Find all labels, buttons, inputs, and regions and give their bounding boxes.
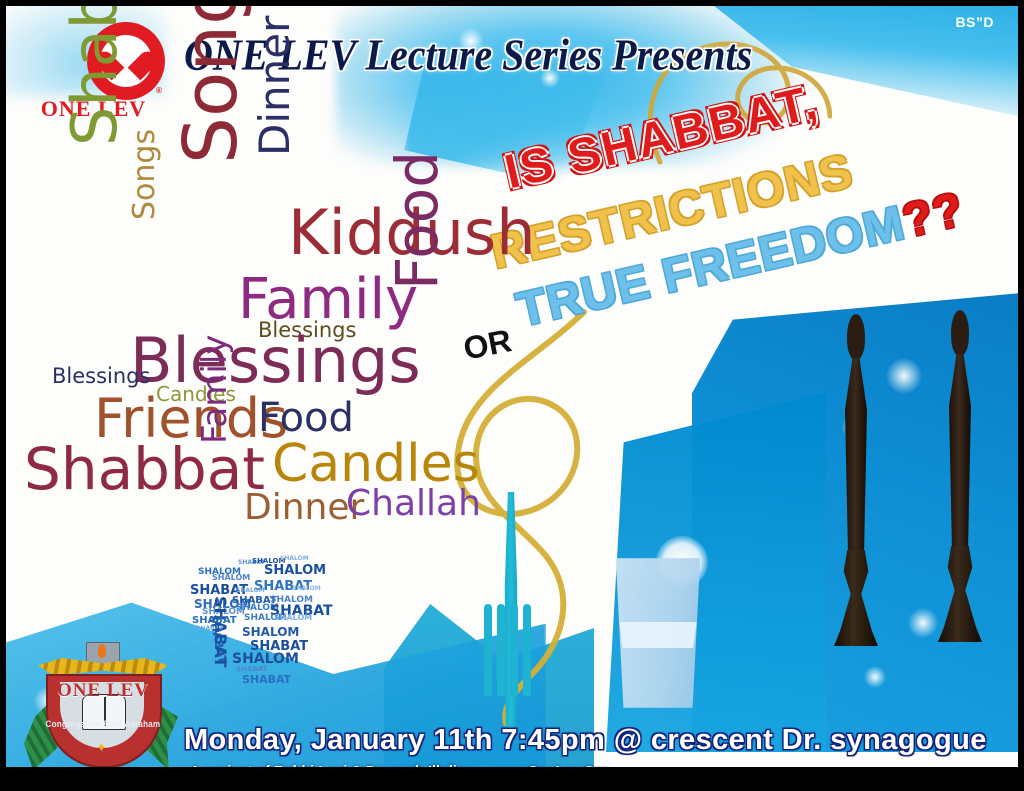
shabbat-candle-right	[936, 310, 984, 640]
heart-cloud-word: SHALOM	[212, 574, 250, 582]
heart-cloud-word: SHALOM	[280, 556, 309, 562]
wordcloud-word: Family	[198, 335, 232, 444]
heart-cloud-word: SHABAT	[242, 674, 291, 685]
heart-cloud-word: SHABAT	[236, 666, 267, 673]
shabbat-word-cloud: ShabbatSongsSongsDinnerKiddushFamilyBles…	[6, 6, 526, 426]
bsd-inscription: BS”D	[955, 14, 994, 30]
wordcloud-word: Dinner	[254, 16, 296, 156]
heart-cloud-word: SHALOM	[274, 614, 312, 622]
fork-illustration	[468, 464, 556, 734]
flyer-inner: ® ONE LEV ONE LEV Lecture Series Present…	[6, 6, 1018, 785]
heart-cloud-word: SHALOM	[292, 586, 321, 592]
star-of-david-icon: ✦	[96, 742, 108, 754]
flyer-canvas: ® ONE LEV ONE LEV Lecture Series Present…	[0, 0, 1024, 791]
wordcloud-word: Songs	[130, 129, 160, 220]
wordcloud-word: Challah	[346, 486, 481, 522]
heart-cloud-word: SHALOM	[264, 564, 326, 577]
wordcloud-word: Songs	[174, 6, 248, 164]
wordcloud-word: Shabbat	[64, 6, 126, 146]
heart-cloud-word: SHALOM	[236, 588, 265, 594]
heart-cloud-word: SHALOM	[242, 626, 299, 638]
flame-icon	[98, 644, 106, 658]
wordcloud-word: Shabbat	[24, 440, 265, 498]
one-lev-congregation-seal: ✦ ONE LEV Congregation Bnai Avraham	[28, 642, 178, 774]
shabat-shalom-heart-cloud: SHALOMSHABATSHALOMSHALOMSHALOMSHALOMSHAB…	[184, 546, 334, 691]
wordcloud-word: Food	[388, 151, 446, 290]
heart-cloud-word: SHALOM	[232, 652, 299, 666]
shabbat-candle-left	[832, 314, 880, 644]
wordcloud-word: Blessings	[52, 366, 150, 387]
bottom-black-bar	[6, 767, 1018, 785]
seal-org-name: ONE LEV	[28, 680, 178, 702]
kiddush-cup	[610, 558, 706, 708]
event-date-location: Monday, January 11th 7:45pm @ crescent D…	[184, 724, 987, 757]
seal-congregation-name: Congregation Bnai Avraham	[38, 720, 168, 730]
wordcloud-word: Food	[258, 398, 354, 438]
